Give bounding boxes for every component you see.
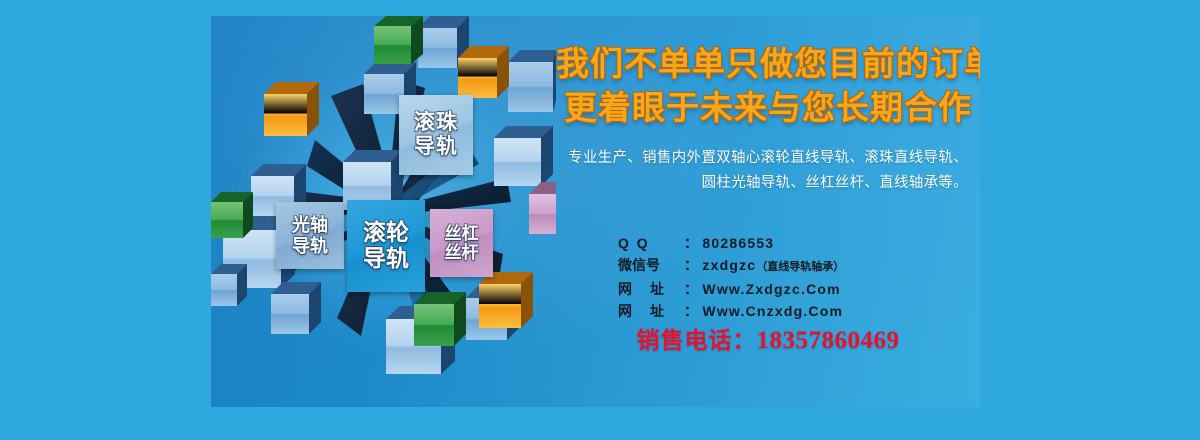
website2-label: 网 址 (618, 300, 684, 322)
banner-content: 我们不单单只做您目前的订单 更着眼于未来与您长期合作 专业生产、销售内外置双轴心… (556, 16, 980, 407)
contact-block: Q Q ： 80286553 微信号 ： zxdgzc （直线导轨轴承） 网 址… (618, 232, 958, 322)
headline: 我们不单单只做您目前的订单 更着眼于未来与您长期合作 (556, 42, 980, 130)
wechat-separator: ： (684, 254, 698, 276)
product-tile-guangzhou-daogui: 光轴 导轨 (276, 202, 344, 269)
promo-banner: 滚珠 导轨 光轴 导轨 滚轮 导轨 丝杠 丝杆 我们不单单只做您目前的订单 更着… (211, 16, 980, 407)
headline-line-2: 更着眼于未来与您长期合作 (556, 86, 980, 130)
sales-phone-number[interactable]: 18357860469 (757, 327, 900, 354)
qq-label: Q Q (618, 232, 684, 254)
wechat-label: 微信号 (618, 254, 684, 276)
product-tile-sigang-line2: 丝杆 (445, 243, 479, 262)
contact-row-qq: Q Q ： 80286553 (618, 232, 958, 254)
product-tile-gunlun-daogui: 滚轮 导轨 (347, 200, 425, 292)
qq-separator: ： (684, 232, 698, 254)
description-text: 专业生产、销售内外置双轴心滚轮直线导轨、滚珠直线导轨、圆柱光轴导轨、丝杠丝杆、直… (568, 146, 968, 196)
website1-separator: ： (684, 278, 698, 300)
website2-value[interactable]: Www.Cnzxdg.Com (702, 300, 843, 322)
product-tile-gunlun-line2: 导轨 (363, 246, 409, 272)
qq-value[interactable]: 80286553 (702, 232, 774, 254)
contact-row-website-1: 网 址 ： Www.Zxdgzc.Com (618, 278, 958, 300)
product-tile-gunzhu-daogui: 滚珠 导轨 (399, 95, 473, 175)
product-tile-gunzhu-line2: 导轨 (414, 135, 458, 159)
product-tile-guangzhou-line1: 光轴 (292, 215, 328, 235)
banner-page: 滚珠 导轨 光轴 导轨 滚轮 导轨 丝杠 丝杆 我们不单单只做您目前的订单 更着… (0, 0, 1200, 440)
product-tile-gunlun-line1: 滚轮 (363, 220, 409, 246)
website2-separator: ： (684, 300, 698, 322)
contact-row-website-2: 网 址 ： Www.Cnzxdg.Com (618, 300, 958, 322)
product-tile-gunzhu-line1: 滚珠 (414, 111, 458, 135)
website1-label: 网 址 (618, 278, 684, 300)
product-tile-guangzhou-line2: 导轨 (292, 236, 328, 256)
product-tile-sigang-line1: 丝杠 (445, 224, 479, 243)
website1-value[interactable]: Www.Zxdgzc.Com (702, 278, 840, 300)
wechat-note: （直线导轨轴承） (756, 256, 844, 278)
sales-phone-label: 销售电话： (637, 327, 757, 353)
contact-row-wechat: 微信号 ： zxdgzc （直线导轨轴承） (618, 254, 958, 278)
wechat-value[interactable]: zxdgzc (702, 254, 756, 276)
headline-line-1: 我们不单单只做您目前的订单 (556, 42, 980, 86)
product-tile-sigang-sigan: 丝杠 丝杆 (430, 209, 493, 277)
sales-phone: 销售电话：18357860469 (556, 321, 980, 355)
